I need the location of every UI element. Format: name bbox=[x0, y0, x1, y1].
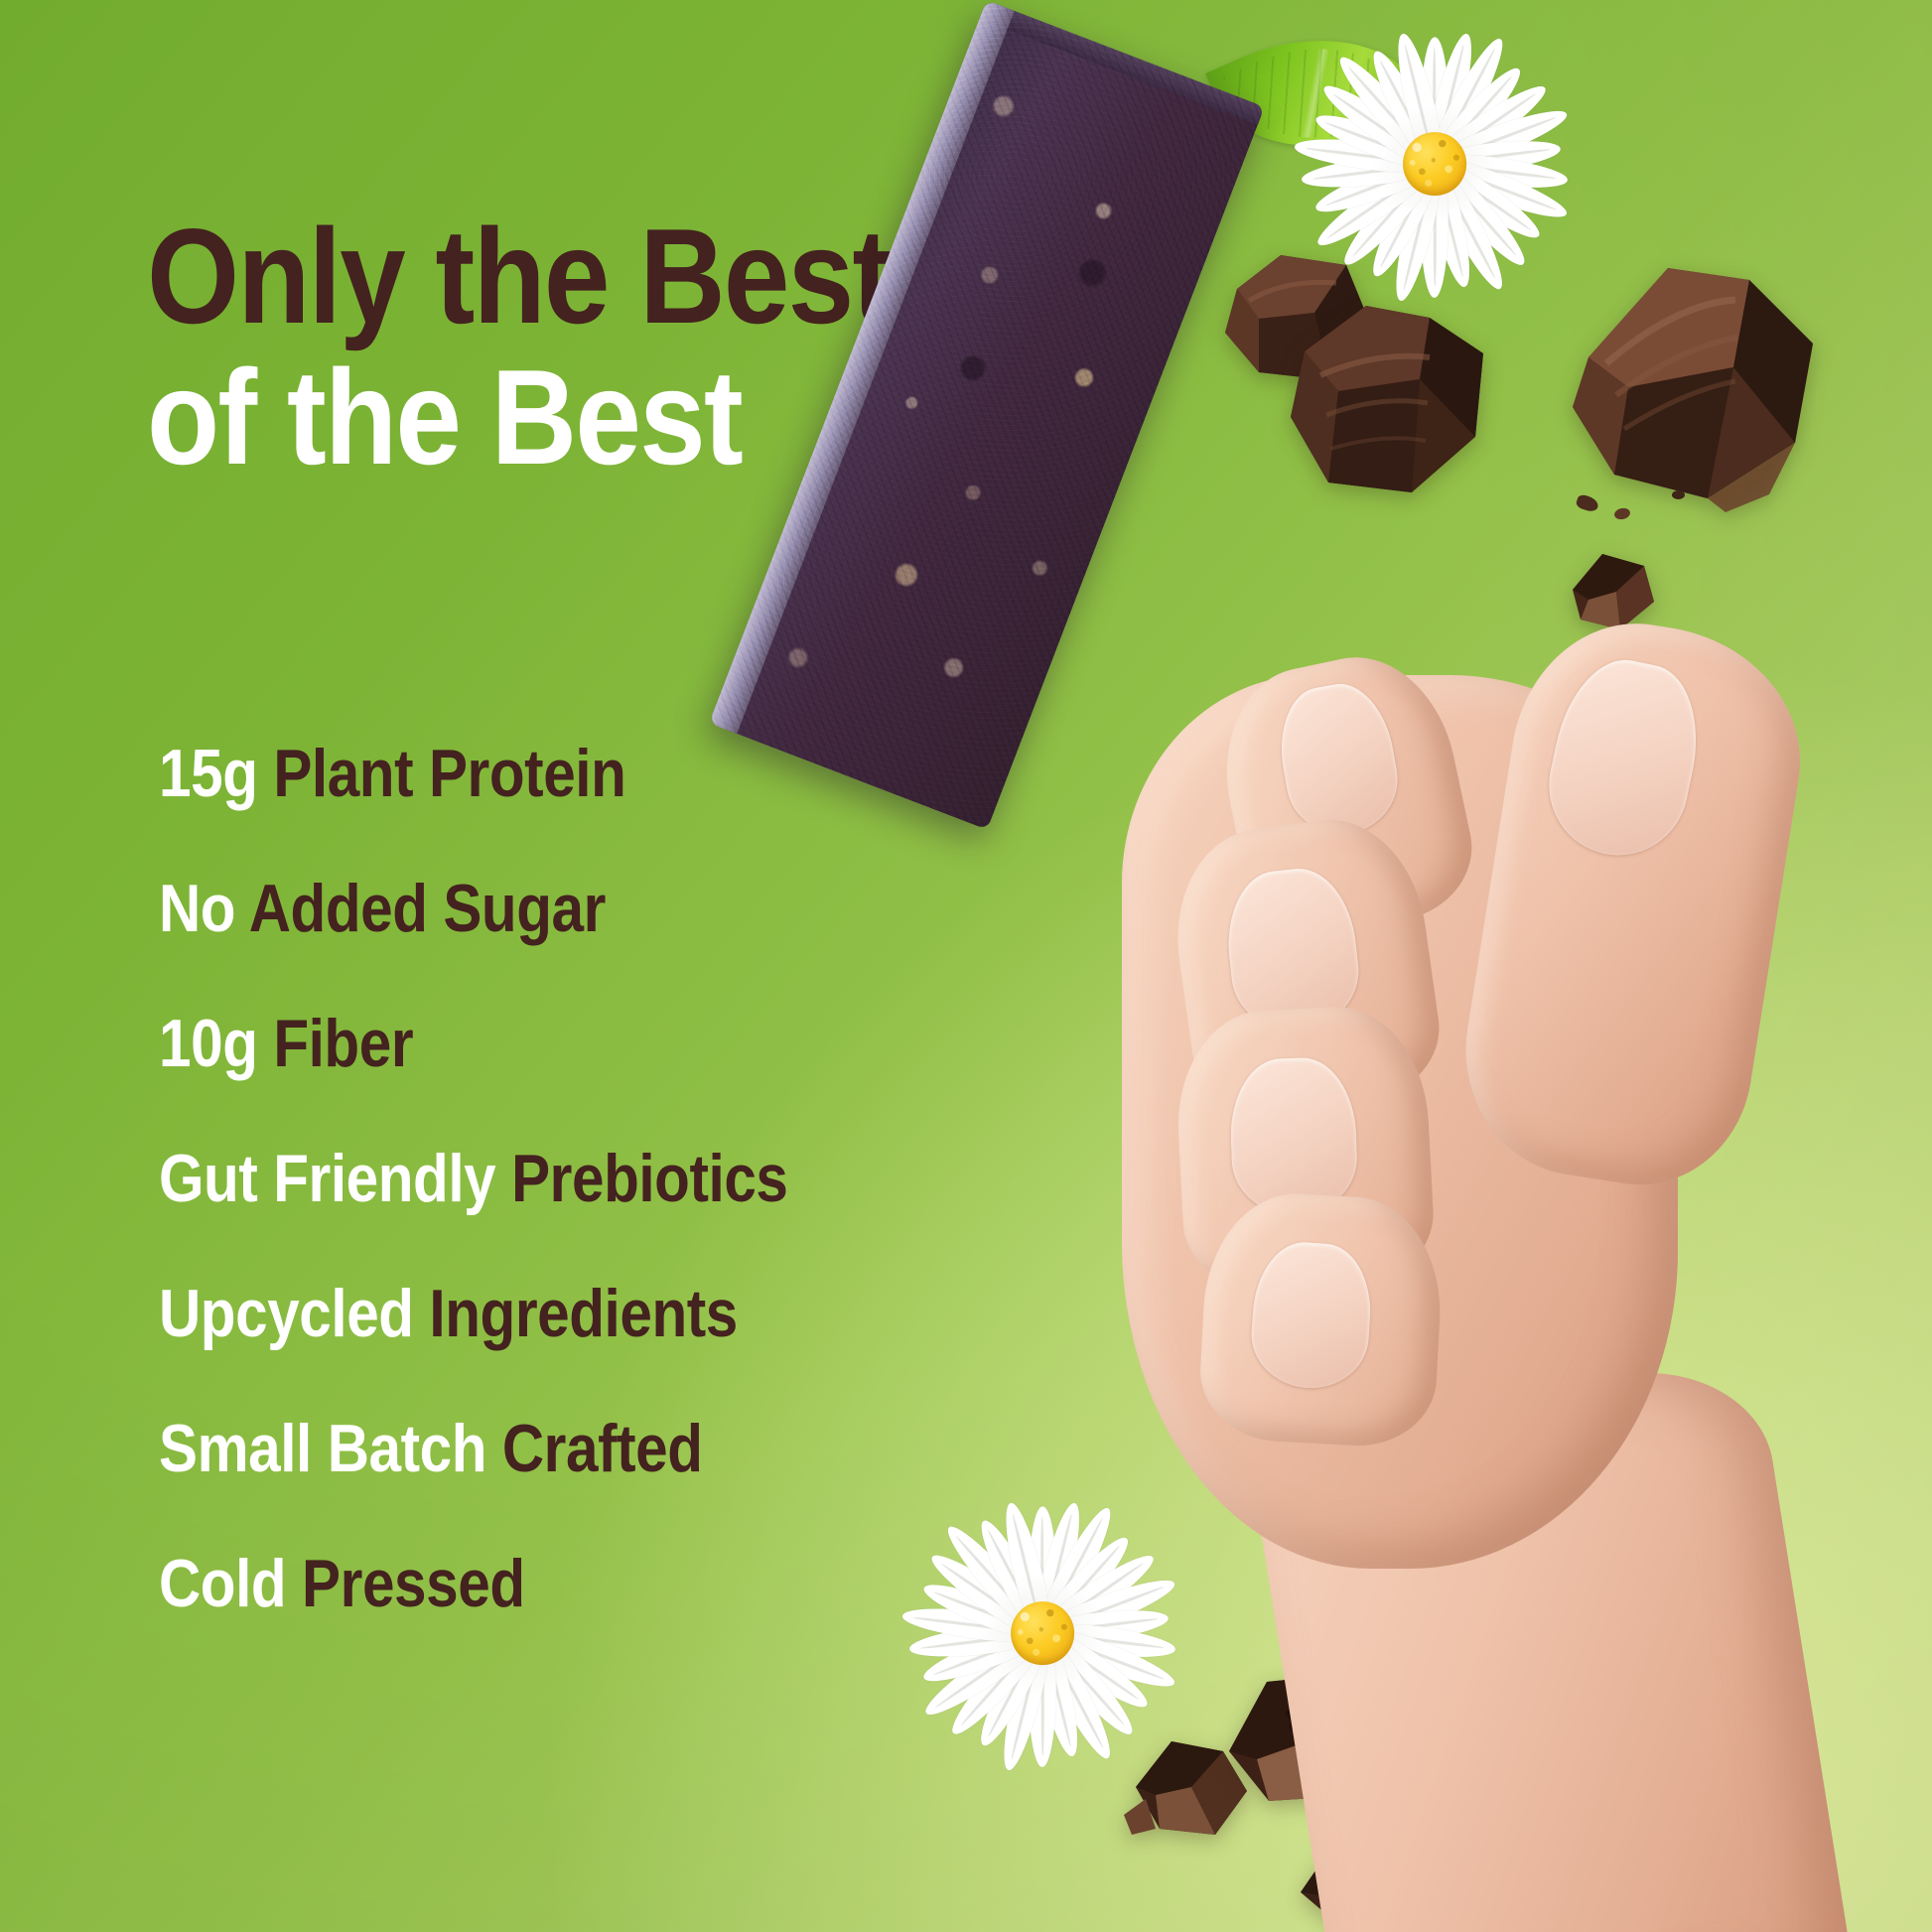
feature-highlight: 10g bbox=[159, 1006, 257, 1081]
feature-item-1: No Added Sugar bbox=[159, 875, 1055, 942]
hand-holding-product bbox=[933, 377, 1932, 1932]
feature-highlight: 15g bbox=[159, 736, 257, 811]
feature-rest: Crafted bbox=[502, 1411, 703, 1486]
feature-highlight: No bbox=[159, 871, 235, 946]
feature-highlight: Small Batch bbox=[159, 1411, 486, 1486]
daisy-center bbox=[1403, 132, 1466, 196]
feature-highlight: Gut Friendly bbox=[159, 1141, 495, 1216]
feature-highlight: Cold bbox=[159, 1546, 286, 1621]
feature-highlight: Upcycled bbox=[159, 1276, 414, 1351]
feature-rest: Fiber bbox=[273, 1006, 413, 1081]
feature-rest: Plant Protein bbox=[273, 736, 625, 811]
feature-item-5: Small Batch Crafted bbox=[159, 1415, 1055, 1482]
feature-rest: Pressed bbox=[302, 1546, 525, 1621]
feature-rest: Added Sugar bbox=[249, 871, 606, 946]
feature-rest: Ingredients bbox=[429, 1276, 737, 1351]
feature-item-4: Upcycled Ingredients bbox=[159, 1280, 1055, 1347]
feature-rest: Prebiotics bbox=[511, 1141, 787, 1216]
headline-line-1: Only the Best bbox=[147, 208, 986, 344]
feature-item-3: Gut Friendly Prebiotics bbox=[159, 1145, 1055, 1212]
feature-item-2: 10g Fiber bbox=[159, 1010, 1055, 1077]
